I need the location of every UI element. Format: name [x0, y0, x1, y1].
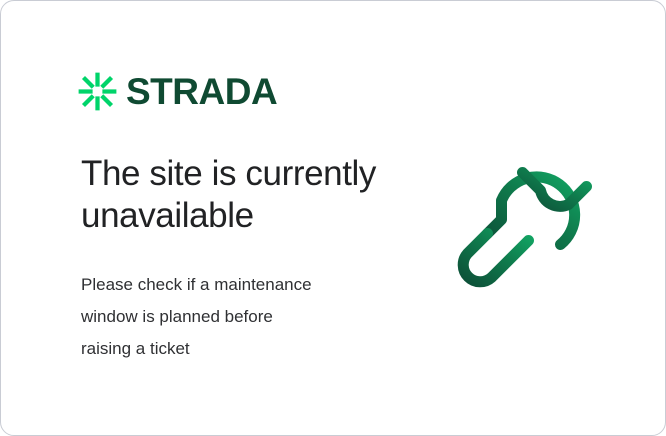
strada-asterisk-icon	[78, 72, 117, 111]
status-description-line: raising a ticket	[81, 333, 386, 365]
status-description-line: window is planned before	[81, 301, 386, 333]
status-description-line: Please check if a maintenance	[81, 269, 386, 301]
status-description: Please check if a maintenance window is …	[81, 269, 386, 365]
page-title: The site is currently unavailable	[81, 153, 411, 237]
status-card: STRADA The site is currently unavailable…	[0, 0, 666, 436]
wrench-icon	[456, 158, 614, 310]
brand-wordmark: STRADA	[126, 73, 277, 110]
brand-logo: STRADA	[78, 72, 277, 111]
